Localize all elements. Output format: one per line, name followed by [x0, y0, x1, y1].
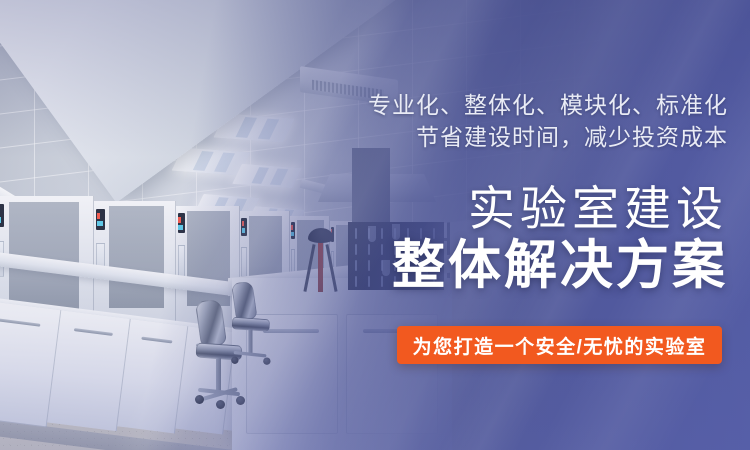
- cta-button[interactable]: 为您打造一个安全/无忧的实验室: [397, 326, 722, 364]
- headline-secondary: 整体解决方案: [392, 236, 728, 296]
- cta-button-label: 为您打造一个安全/无忧的实验室: [413, 332, 707, 359]
- laboratory-banner: 专业化、整体化、模块化、标准化 节省建设时间，减少投资成本 实验室建设 整体解决…: [0, 0, 750, 450]
- subtitle-line-2: 节省建设时间，减少投资成本: [416, 122, 728, 152]
- subtitle-line-1: 专业化、整体化、模块化、标准化: [368, 90, 728, 120]
- headline-primary: 实验室建设: [468, 182, 728, 236]
- banner-content: 专业化、整体化、模块化、标准化 节省建设时间，减少投资成本 实验室建设 整体解决…: [0, 0, 750, 450]
